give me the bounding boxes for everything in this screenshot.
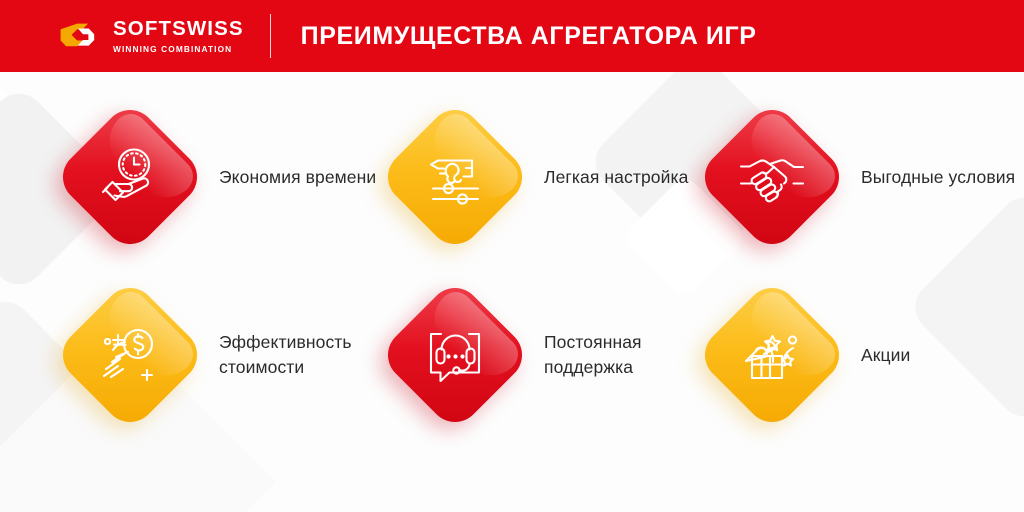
headset-chat-support-icon — [380, 280, 530, 430]
brand-logo[interactable]: SOFTSWISS WINNING COMBINATION — [58, 19, 244, 53]
benefit-tile — [55, 102, 205, 252]
softswiss-chevron-logo-icon — [58, 19, 102, 53]
benefit-tile — [697, 102, 847, 252]
benefit-card-easy-setup[interactable]: Легкая настройка — [380, 102, 689, 252]
benefit-card-constant-support[interactable]: Постоянная поддержка — [380, 280, 719, 430]
brand-logo-text: SOFTSWISS WINNING COMBINATION — [113, 19, 244, 53]
benefit-tile — [380, 280, 530, 430]
brand-tagline: WINNING COMBINATION — [113, 45, 244, 53]
flying-dollar-coin-icon — [55, 280, 205, 430]
benefit-label: Эффективность стоимости — [219, 330, 394, 380]
handshake-icon — [697, 102, 847, 252]
benefit-tile — [697, 280, 847, 430]
benefit-card-time-saving[interactable]: Экономия времени — [55, 102, 376, 252]
benefits-grid: Экономия времени — [0, 72, 1024, 512]
benefit-card-promotions[interactable]: Акции — [697, 280, 910, 430]
benefit-label: Экономия времени — [219, 165, 376, 190]
brand-name: SOFTSWISS — [113, 19, 244, 40]
benefit-tile — [55, 280, 205, 430]
page-title: ПРЕИМУЩЕСТВА АГРЕГАТОРА ИГР — [301, 24, 757, 49]
hand-holding-clock-icon — [55, 102, 205, 252]
benefit-label: Постоянная поддержка — [544, 330, 719, 380]
benefit-label: Легкая настройка — [544, 165, 689, 190]
benefit-card-cost-effectiveness[interactable]: Эффективность стоимости — [55, 280, 394, 430]
header-divider — [270, 14, 271, 58]
benefit-card-favorable-terms[interactable]: Выгодные условия — [697, 102, 1015, 252]
gift-box-stars-icon — [697, 280, 847, 430]
infographic-page: SOFTSWISS WINNING COMBINATION ПРЕИМУЩЕСТ… — [0, 0, 1024, 512]
hand-sliders-settings-icon — [380, 102, 530, 252]
benefit-label: Акции — [861, 343, 910, 368]
benefit-label: Выгодные условия — [861, 165, 1015, 190]
benefit-tile — [380, 102, 530, 252]
page-header: SOFTSWISS WINNING COMBINATION ПРЕИМУЩЕСТ… — [0, 0, 1024, 72]
